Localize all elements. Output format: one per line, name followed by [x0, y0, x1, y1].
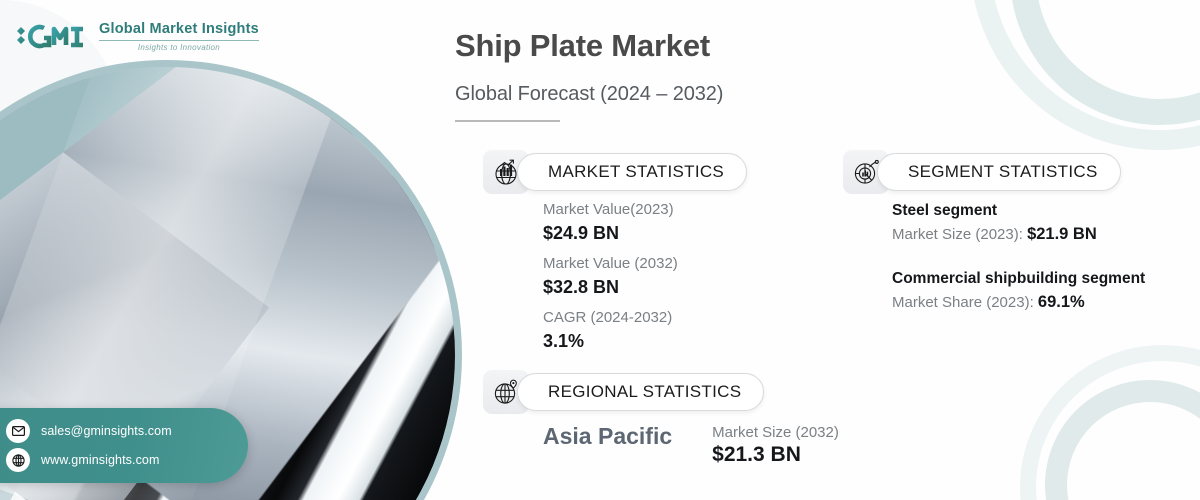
region-metric: Market Size (2032) $21.3 BN: [712, 424, 839, 467]
infographic-canvas: sales@gminsights.com www.gminsights.com: [0, 0, 1200, 500]
market-value-2023-label: Market Value(2023): [543, 199, 678, 221]
contact-website: www.gminsights.com: [41, 453, 160, 467]
market-statistics-label: MARKET STATISTICS: [548, 162, 724, 182]
market-value-2032-label: Market Value (2032): [543, 253, 678, 275]
gmi-logo[interactable]: Global Market Insights Insights to Innov…: [14, 22, 259, 52]
segment-1-metric-label: Market Size (2023):: [892, 226, 1027, 243]
page-title: Ship Plate Market: [455, 28, 710, 64]
decorative-arc-bottom-right-outer: [1020, 345, 1200, 500]
envelope-icon: [6, 419, 30, 443]
section-regional-statistics: REGIONAL STATISTICS: [483, 370, 764, 414]
contact-website-row[interactable]: www.gminsights.com: [6, 448, 248, 472]
segment-1-metric: Market Size (2023): $21.9 BN: [892, 222, 1157, 247]
gmi-logo-divider: [99, 40, 259, 41]
gmi-logo-icon: [14, 22, 90, 52]
contact-email: sales@gminsights.com: [41, 424, 172, 438]
region-name: Asia Pacific: [543, 424, 672, 450]
segment-statistics-pill[interactable]: SEGMENT STATISTICS: [877, 153, 1121, 191]
contact-bar: sales@gminsights.com www.gminsights.com: [0, 408, 248, 483]
market-statistics-body: Market Value(2023) $24.9 BN Market Value…: [543, 199, 678, 361]
regional-statistics-label: REGIONAL STATISTICS: [548, 382, 741, 402]
decorative-arc-bottom-right-inner: [1045, 380, 1200, 500]
decorative-arc-top-right-outer: [970, 0, 1200, 150]
gmi-logo-tagline: Insights to Innovation: [99, 43, 259, 52]
segment-2-metric-value: 69.1%: [1038, 293, 1085, 311]
page-subtitle: Global Forecast (2024 – 2032): [455, 83, 723, 106]
segment-statistics-body: Steel segment Market Size (2023): $21.9 …: [892, 200, 1157, 315]
segment-2-metric-label: Market Share (2023):: [892, 294, 1038, 311]
section-segment-statistics: SEGMENT STATISTICS: [843, 150, 1121, 194]
region-metric-value: $21.3 BN: [712, 443, 839, 467]
segment-statistics-label: SEGMENT STATISTICS: [908, 162, 1098, 182]
regional-statistics-pill[interactable]: REGIONAL STATISTICS: [517, 373, 764, 411]
gmi-logo-text: Global Market Insights Insights to Innov…: [99, 22, 259, 52]
market-statistics-pill[interactable]: MARKET STATISTICS: [517, 153, 747, 191]
title-divider: [455, 120, 560, 122]
market-value-2032-value: $32.8 BN: [543, 275, 678, 299]
decorative-arc-top-right-inner: [1010, 0, 1200, 125]
segment-spacer: [892, 246, 1157, 268]
gmi-logo-title: Global Market Insights: [99, 22, 259, 38]
segment-1-name: Steel segment: [892, 200, 1157, 222]
contact-email-row[interactable]: sales@gminsights.com: [6, 419, 248, 443]
globe-icon: [6, 448, 30, 472]
market-value-2023-value: $24.9 BN: [543, 221, 678, 245]
regional-statistics-body: Asia Pacific Market Size (2032) $21.3 BN: [543, 424, 839, 467]
segment-2-name: Commercial shipbuilding segment: [892, 268, 1157, 290]
segment-2-metric: Market Share (2023): 69.1%: [892, 290, 1157, 315]
cagr-label: CAGR (2024-2032): [543, 307, 678, 329]
region-metric-label: Market Size (2032): [712, 424, 839, 441]
section-market-statistics: MARKET STATISTICS: [483, 150, 747, 194]
cagr-value: 3.1%: [543, 329, 678, 353]
segment-1-metric-value: $21.9 BN: [1027, 225, 1097, 243]
